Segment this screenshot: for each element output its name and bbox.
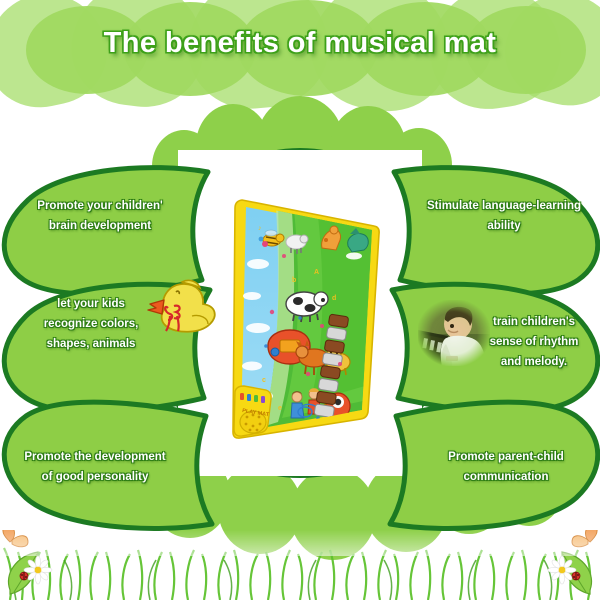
benefit-line: ability [412, 216, 596, 236]
benefit-line: sense of rhythm [474, 332, 594, 352]
svg-text:♪: ♪ [258, 225, 262, 232]
grass-footer-decoration [0, 530, 600, 600]
benefit-line: brain development [12, 216, 188, 236]
benefit-line: of good personality [2, 467, 188, 487]
benefit-text-good-personality: Promote the development of good personal… [2, 447, 188, 487]
benefit-text-brain-development: Promote your children' brain development [12, 196, 188, 236]
svg-text:d: d [332, 295, 336, 302]
svg-text:b: b [292, 277, 296, 284]
benefit-line: Promote your children' [12, 196, 188, 216]
benefit-line: and melody. [474, 352, 594, 372]
svg-text:A: A [314, 269, 319, 276]
benefit-line: communication [418, 467, 594, 487]
benefit-line: Promote the development [2, 447, 188, 467]
benefit-line: train children's [474, 312, 594, 332]
page-title: The benefits of musical mat [0, 27, 600, 60]
benefit-text-language-learning: Stimulate language-learning ability [412, 196, 596, 236]
svg-text:e: e [278, 405, 282, 412]
child-playing-piano-photo [418, 300, 490, 366]
benefit-line: Promote parent-child [418, 447, 594, 467]
benefit-text-rhythm-melody: train children's sense of rhythm and mel… [474, 312, 594, 372]
poster-canvas: The benefits of musical mat Promote your… [0, 0, 600, 600]
duck-illustration [146, 276, 220, 338]
benefit-text-parent-child: Promote parent-child communication [418, 447, 594, 487]
product-musical-mat-image: ♪Ab cde [222, 196, 390, 440]
benefit-line: Stimulate language-learning [412, 196, 596, 216]
svg-text:c: c [262, 377, 266, 384]
